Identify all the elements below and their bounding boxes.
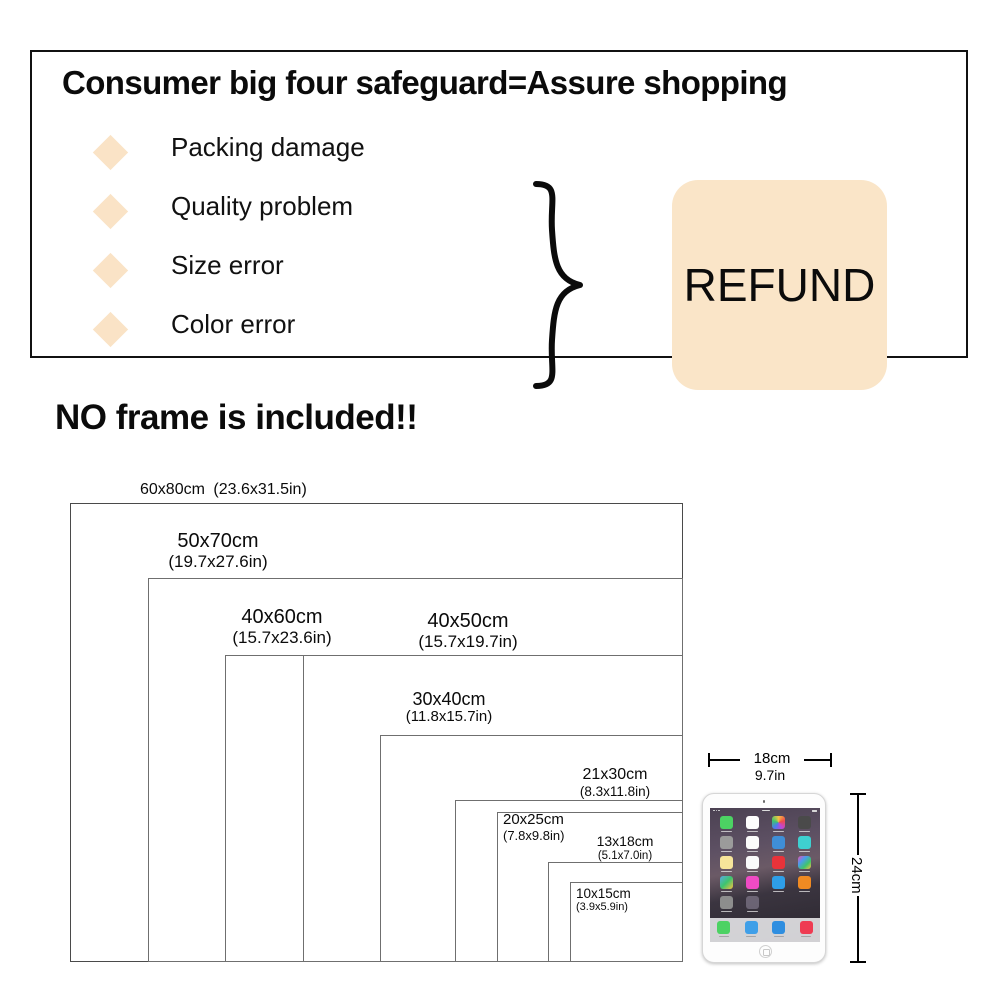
size-label-60x80: 60x80cm (23.6x31.5in) <box>60 481 520 499</box>
app-icon-grid <box>715 816 815 912</box>
tablet-icon <box>702 793 826 963</box>
app-clock[interactable] <box>741 836 763 852</box>
dock-app-messages[interactable] <box>717 921 730 937</box>
dock-app-mail[interactable] <box>745 921 758 937</box>
size-label-30x40: 30x40cm (11.8x15.7in) <box>359 689 539 726</box>
app-photos[interactable] <box>767 816 789 832</box>
app-news[interactable] <box>767 856 789 872</box>
tablet-screen <box>710 808 820 942</box>
app-videos[interactable] <box>793 836 815 852</box>
app-maps[interactable] <box>767 836 789 852</box>
front-camera-icon <box>763 800 766 803</box>
app-camera[interactable] <box>793 816 815 832</box>
tablet-width-in: 9.7in <box>740 767 800 783</box>
tablet-height-cm: 24cm <box>847 855 866 896</box>
size-label-21x30: 21x30cm (8.3x11.8in) <box>540 766 690 799</box>
app-reminders[interactable] <box>741 856 763 872</box>
product-infographic: Consumer big four safeguard=Assure shopp… <box>0 0 1000 1000</box>
size-label-40x60: 40x60cm (15.7x23.6in) <box>192 606 372 647</box>
size-label-40x50: 40x50cm (15.7x19.7in) <box>378 610 558 651</box>
app-settings[interactable] <box>715 896 737 912</box>
folder-extras[interactable] <box>741 896 763 912</box>
app-ibooks[interactable] <box>793 876 815 892</box>
dock-app-music[interactable] <box>800 921 813 937</box>
app-photo-booth[interactable] <box>715 876 737 892</box>
status-bar <box>710 808 820 813</box>
dock-app-safari[interactable] <box>772 921 785 937</box>
app-calendar[interactable] <box>741 816 763 832</box>
size-label-13x18: 13x18cm (5.1x7.0in) <box>570 834 680 863</box>
tablet-width-cm: 18cm <box>740 750 804 767</box>
app-game-center[interactable] <box>793 856 815 872</box>
tablet-reference: 18cm 9.7in 24cm <box>690 745 890 975</box>
home-button-icon[interactable] <box>759 945 772 958</box>
dock <box>710 918 820 942</box>
app-app-store[interactable] <box>767 876 789 892</box>
app-itunes[interactable] <box>741 876 763 892</box>
app-facetime[interactable] <box>715 816 737 832</box>
size-label-50x70: 50x70cm (19.7x27.6in) <box>128 530 308 571</box>
app-notes[interactable] <box>715 856 737 872</box>
size-label-10x15: 10x15cm (3.9x5.9in) <box>576 886 686 913</box>
app-contacts[interactable] <box>715 836 737 852</box>
